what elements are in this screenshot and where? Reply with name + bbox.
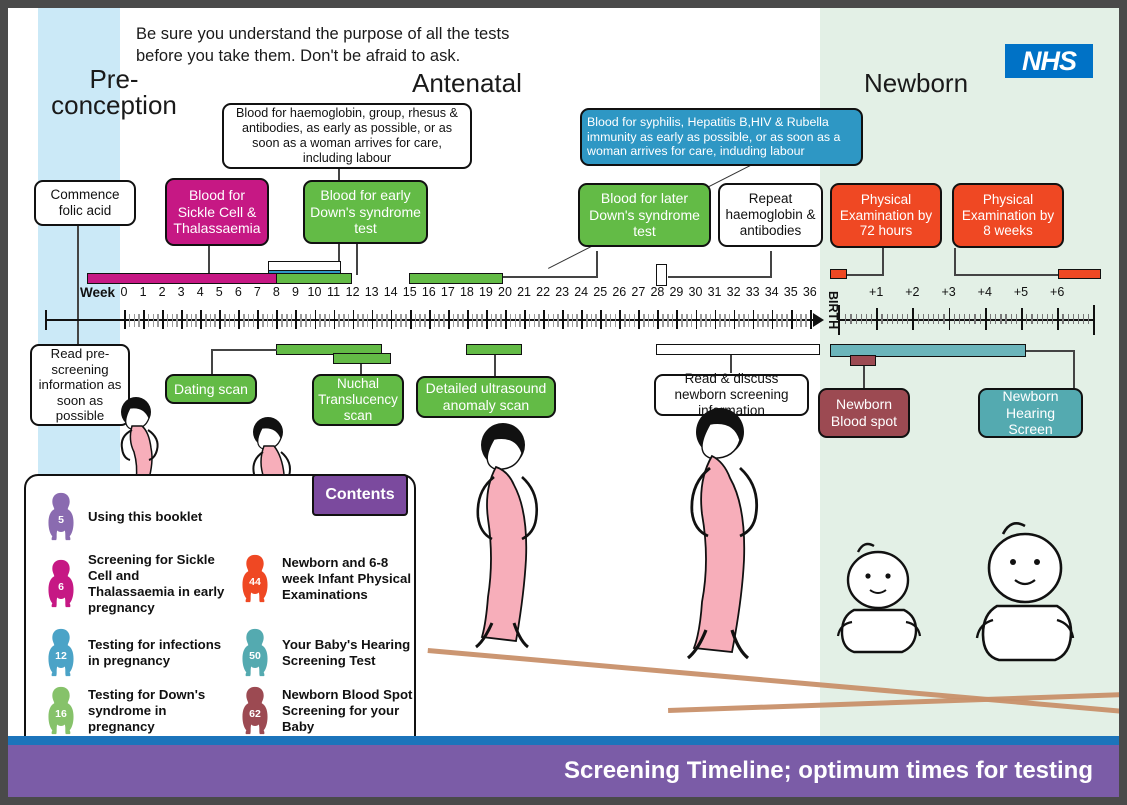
box-blood-later-downs[interactable]: Blood for later Down's syndrome test <box>578 183 711 247</box>
bar-later-downs <box>409 273 503 284</box>
ruler-week-label: 30 <box>686 285 706 299</box>
ruler-tick-minor <box>576 314 578 327</box>
ruler-week-label: 12 <box>343 285 363 299</box>
ruler-week-label: 35 <box>781 285 801 299</box>
ruler-newborn-label: +5 <box>1011 285 1031 299</box>
ruler-tick-minor <box>310 314 312 327</box>
ruler-tick-minor-newborn <box>1016 314 1017 324</box>
ruler-tick-minor-newborn <box>938 314 939 324</box>
ruler-week-label: 7 <box>247 285 267 299</box>
connector-repeat-v <box>770 251 772 277</box>
connector-phys72-h <box>846 274 884 276</box>
contents-figure-icon: 5 <box>44 490 78 544</box>
ruler-tick-minor <box>281 314 283 327</box>
ruler-tick-major-newborn <box>912 308 914 330</box>
ruler-week-label: 9 <box>285 285 305 299</box>
ruler-tick-minor <box>424 314 426 327</box>
ruler-tick-minor <box>129 314 131 327</box>
ruler-tick-minor <box>796 314 798 327</box>
ruler-tick-minor <box>272 314 274 327</box>
ruler-tick-major <box>505 310 507 329</box>
contents-page-number: 16 <box>44 708 78 720</box>
ruler-tick-minor <box>667 314 669 327</box>
ruler-week-label: 6 <box>228 285 248 299</box>
ruler-tick-minor <box>691 314 693 327</box>
ruler-week-label: 21 <box>514 285 534 299</box>
contents-page-number: 5 <box>44 514 78 526</box>
contents-figure-icon: 12 <box>44 626 78 680</box>
ruler-tick-major <box>143 310 145 329</box>
ruler-tick-minor <box>153 314 155 327</box>
ruler-week-label: 16 <box>419 285 439 299</box>
ruler-tick-major <box>619 310 621 329</box>
screening-timeline-poster: Be sure you understand the purpose of al… <box>8 8 1119 797</box>
ruler-tick-major <box>334 310 336 329</box>
ruler-week-label: 8 <box>266 285 286 299</box>
ruler-tick-major <box>696 310 698 329</box>
contents-page-number: 44 <box>238 576 272 588</box>
banner-blue-stripe <box>8 736 1119 745</box>
ruler-tick-minor <box>343 314 345 327</box>
ruler-tick-major <box>276 310 278 329</box>
contents-item-label: Using this booklet <box>88 509 202 525</box>
ruler-tick-minor <box>615 314 617 327</box>
ruler-tick-minor-newborn <box>902 314 903 324</box>
connector-later-downs-h <box>503 276 598 278</box>
ruler-tick-minor <box>438 314 440 327</box>
ruler-tick-minor-newborn <box>892 314 893 324</box>
ruler-tick-minor <box>495 314 497 327</box>
ruler-tick-minor-newborn <box>850 314 851 324</box>
ruler-tick-minor <box>415 314 417 327</box>
ruler-tick-minor <box>672 314 674 327</box>
ruler-week-label: 28 <box>647 285 667 299</box>
contents-item[interactable]: 44Newborn and 6-8 week Infant Physical E… <box>238 552 420 606</box>
contents-item-label: Testing for infections in pregnancy <box>88 637 226 669</box>
ruler-newborn-label: +3 <box>939 285 959 299</box>
ruler-tick-minor <box>262 314 264 327</box>
ruler-tick-minor-newborn <box>1073 314 1074 324</box>
ruler-tick-minor-newborn <box>959 314 960 324</box>
ruler-tick-minor <box>710 314 712 327</box>
ruler-tick-minor-newborn <box>1078 314 1079 324</box>
bar-early-downs <box>276 273 352 284</box>
ruler-tick-minor <box>457 314 459 327</box>
bar-nuchal-scan <box>333 353 391 364</box>
box-newborn-blood-spot[interactable]: Newborn Blood spot <box>818 388 910 438</box>
ruler-tick-major-newborn <box>876 308 878 330</box>
ruler-tick-minor <box>481 314 483 327</box>
ruler-newborn-label: +6 <box>1047 285 1067 299</box>
ruler-week-label: 18 <box>457 285 477 299</box>
ruler-week-label: 11 <box>324 285 344 299</box>
ruler-tick-minor <box>476 314 478 327</box>
box-physical-exam-8w[interactable]: Physical Examination by 8 weeks <box>952 183 1064 248</box>
ruler-tick-minor-newborn <box>1005 314 1006 324</box>
contents-figure-icon: 62 <box>238 684 272 738</box>
ruler-tick-minor <box>534 314 536 327</box>
ruler-week-label: 29 <box>666 285 686 299</box>
ruler-tick-major <box>200 310 202 329</box>
stage-title-newborn: Newborn <box>864 68 968 99</box>
connector-anomaly-v <box>494 355 496 377</box>
ruler-tick-minor <box>367 314 369 327</box>
ruler-tick-major <box>600 310 602 329</box>
ruler-tick-minor <box>662 314 664 327</box>
bar-anomaly-scan <box>466 344 522 355</box>
ruler-tick-major <box>715 310 717 329</box>
ruler-tick-minor <box>743 314 745 327</box>
ruler-tick-minor <box>605 314 607 327</box>
contents-page-number: 62 <box>238 708 272 720</box>
ruler-tick-major <box>391 310 393 329</box>
ruler-tick-minor <box>805 314 807 327</box>
ruler-tick-major <box>353 310 355 329</box>
ruler-tick-major <box>657 310 659 329</box>
ruler-week-label: 24 <box>571 285 591 299</box>
ruler-tick-minor <box>234 314 236 327</box>
box-blood-sickle-cell[interactable]: Blood for Sickle Cell & Thalassaemia <box>165 178 269 246</box>
ruler-week-label: 19 <box>476 285 496 299</box>
ruler-tick-minor <box>286 314 288 327</box>
ruler-week-label: 10 <box>305 285 325 299</box>
contents-page-number: 12 <box>44 650 78 662</box>
ruler-week-label: 36 <box>800 285 820 299</box>
box-newborn-hearing-screen[interactable]: Newborn Hearing Screen <box>978 388 1083 438</box>
contents-figure-icon: 50 <box>238 626 272 680</box>
ruler-tick-minor-newborn <box>1047 314 1048 324</box>
ruler-tick-minor <box>376 314 378 327</box>
ruler-tick-minor-newborn <box>861 314 862 324</box>
box-repeat-haemoglobin[interactable]: Repeat haemoglobin & antibodies <box>718 183 823 247</box>
ruler-tick-minor-newborn <box>918 314 919 324</box>
ruler-tick-major <box>772 310 774 329</box>
ruler-tick-minor <box>748 314 750 327</box>
ruler-tick-minor <box>491 314 493 327</box>
stage-title-preconception-line1: Pre- <box>44 66 184 92</box>
ruler-tick-minor <box>167 314 169 327</box>
ruler-end-cap <box>1093 305 1095 335</box>
ruler-tick-minor-newborn <box>881 314 882 324</box>
ruler-tick-minor <box>324 314 326 327</box>
nhs-logo: NHS <box>1005 44 1093 78</box>
contents-item[interactable]: 6Screening for Sickle Cell and Thalassae… <box>44 552 226 616</box>
ruler-tick-major <box>162 310 164 329</box>
ruler-week-label: 23 <box>552 285 572 299</box>
stage-title-preconception: Pre- conception <box>44 66 184 118</box>
ruler-tick-minor <box>700 314 702 327</box>
contents-figure-icon: 44 <box>238 552 272 606</box>
ruler-tick-minor <box>629 314 631 327</box>
ruler-tick-major <box>429 310 431 329</box>
ruler-tick-minor <box>610 314 612 327</box>
contents-figure-icon: 16 <box>44 684 78 738</box>
contents-item[interactable]: 12Testing for infections in pregnancy <box>44 626 226 680</box>
ruler-tick-major <box>410 310 412 329</box>
ruler-tick-minor <box>329 314 331 327</box>
contents-figure-icon: 6 <box>44 557 78 611</box>
ruler-tick-minor <box>762 314 764 327</box>
ruler-tick-minor-newborn <box>1083 314 1084 324</box>
ruler-tick-major <box>372 310 374 329</box>
ruler-tick-minor <box>214 314 216 327</box>
ruler-tick-minor <box>553 314 555 327</box>
ruler-tick-minor-newborn <box>1068 314 1069 324</box>
ruler-week-label: 34 <box>762 285 782 299</box>
connector-phys8w-v <box>954 248 956 276</box>
box-physical-exam-72h[interactable]: Physical Examination by 72 hours <box>830 183 942 248</box>
connector-phys8w-h <box>954 274 1059 276</box>
ruler-tick-major <box>238 310 240 329</box>
ruler-week-label: 27 <box>628 285 648 299</box>
ruler-tick-minor <box>319 314 321 327</box>
ruler-tick-minor <box>453 314 455 327</box>
ruler-tick-minor <box>134 314 136 327</box>
ruler-tick-minor <box>705 314 707 327</box>
figure-baby-1 <box>828 538 938 663</box>
connector-early-downs <box>356 243 358 275</box>
ruler-arrow-birth <box>813 313 824 327</box>
banner-purple: Screening Timeline; optimum times for te… <box>8 745 1119 797</box>
connector-dating-h <box>211 349 277 351</box>
contents-tab[interactable]: Contents <box>312 474 408 516</box>
ruler-tick-minor <box>362 314 364 327</box>
ruler-tick-minor <box>686 314 688 327</box>
ruler-tick-minor <box>205 314 207 327</box>
ruler-tick-minor-newborn <box>933 314 934 324</box>
ruler-tick-minor <box>405 314 407 327</box>
ruler-tick-minor <box>776 314 778 327</box>
ruler-week-label: 20 <box>495 285 515 299</box>
ruler-tick-minor-newborn <box>866 314 867 324</box>
ruler-tick-minor <box>538 314 540 327</box>
ruler-tick-minor-newborn <box>1031 314 1032 324</box>
ruler-tick-minor-newborn <box>995 314 996 324</box>
ruler-tick-minor <box>643 314 645 327</box>
ruler-axis-newborn <box>840 319 1094 321</box>
connector-dating-v <box>211 349 213 377</box>
ruler-tick-major-newborn <box>1057 308 1059 330</box>
ruler-week-label: 22 <box>533 285 553 299</box>
ruler-tick-minor-newborn <box>943 314 944 324</box>
ruler-tick-minor <box>172 314 174 327</box>
ruler-tick-minor <box>395 314 397 327</box>
ruler-axis-preconception <box>45 319 125 321</box>
contents-item-label: Your Baby's Hearing Screening Test <box>282 637 420 669</box>
ruler-tick-minor <box>148 314 150 327</box>
ruler-tick-minor-newborn <box>1052 314 1053 324</box>
contents-item-label: Testing for Down's syndrome in pregnancy <box>88 687 226 735</box>
ruler-tick-minor <box>591 314 593 327</box>
ruler-week-label: 26 <box>609 285 629 299</box>
ruler-tick-minor-newborn <box>1026 314 1027 324</box>
ruler-tick-minor-newborn <box>980 314 981 324</box>
ruler-tick-minor <box>567 314 569 327</box>
ruler-tick-minor <box>338 314 340 327</box>
ruler-tick-major <box>581 310 583 329</box>
ruler-tick-minor <box>248 314 250 327</box>
contents-item-label: Newborn Blood Spot Screening for your Ba… <box>282 687 420 735</box>
ruler-tick-minor <box>529 314 531 327</box>
contents-item[interactable]: 16Testing for Down's syndrome in pregnan… <box>44 684 226 738</box>
ruler-week-label: 33 <box>743 285 763 299</box>
ruler-tick-minor <box>386 314 388 327</box>
ruler-tick-major <box>315 310 317 329</box>
ruler-week-label: 5 <box>209 285 229 299</box>
ruler-week-label: 3 <box>171 285 191 299</box>
contents-item-label: Screening for Sickle Cell and Thalassaem… <box>88 552 226 616</box>
bar-repeat-haemoglobin <box>656 264 667 286</box>
ruler-tick-minor-newborn <box>897 314 898 324</box>
ruler-tick-minor <box>443 314 445 327</box>
connector-phys72-v <box>882 248 884 276</box>
figure-pregnant-woman-3 <box>456 423 556 653</box>
ruler-tick-minor <box>243 314 245 327</box>
contents-page-number: 6 <box>44 581 78 593</box>
bar-sickle-cell <box>87 273 277 284</box>
ruler-tick-minor <box>500 314 502 327</box>
ruler-tick-minor <box>195 314 197 327</box>
ruler-tick-minor <box>781 314 783 327</box>
ruler-tick-major <box>486 310 488 329</box>
stage-title-preconception-line2: conception <box>44 92 184 118</box>
box-dating-scan[interactable]: Dating scan <box>165 374 257 404</box>
ruler-tick-minor <box>510 314 512 327</box>
ruler-tick-minor-newborn <box>969 314 970 324</box>
ruler-newborn-label: +2 <box>902 285 922 299</box>
ruler-tick-major <box>257 310 259 329</box>
ruler-tick-major <box>791 310 793 329</box>
ruler-tick-major-newborn <box>1021 308 1023 330</box>
ruler-tick-minor <box>348 314 350 327</box>
ruler-tick-minor-newborn <box>856 314 857 324</box>
ruler-tick-minor <box>300 314 302 327</box>
ruler-week-label: 0 <box>114 285 134 299</box>
ruler-tick-major <box>295 310 297 329</box>
ruler-tick-major <box>448 310 450 329</box>
ruler-tick-major <box>524 310 526 329</box>
box-detailed-anomaly-scan[interactable]: Detailed ultrasound anomaly scan <box>416 376 556 418</box>
figure-baby-2 <box>963 516 1093 676</box>
ruler-tick-minor-newborn <box>1088 314 1089 324</box>
ruler-tick-minor <box>186 314 188 327</box>
ruler-tick-major <box>543 310 545 329</box>
ruler-tick-major <box>753 310 755 329</box>
callout-infections: Blood for syphilis, Hepatitis B,HIV & Ru… <box>580 108 863 166</box>
ruler-tick-minor <box>381 314 383 327</box>
ruler-tick-minor <box>472 314 474 327</box>
ruler-week-label: 1 <box>133 285 153 299</box>
ruler-tick-major <box>181 310 183 329</box>
ruler-tick-minor <box>434 314 436 327</box>
ruler-tick-major-newborn <box>949 308 951 330</box>
contents-item[interactable]: 5Using this booklet <box>44 490 226 544</box>
ruler-tick-minor <box>291 314 293 327</box>
ruler-tick-minor <box>729 314 731 327</box>
ruler-tick-minor <box>724 314 726 327</box>
ruler-tick-major <box>124 310 126 329</box>
ruler-tick-minor-newborn <box>1000 314 1001 324</box>
ruler-tick-minor <box>624 314 626 327</box>
ruler-tick-minor-newborn <box>1042 314 1043 324</box>
ruler-week-label: 13 <box>362 285 382 299</box>
connector-folic <box>77 223 79 348</box>
ruler-tick-minor <box>548 314 550 327</box>
contents-item[interactable]: 62Newborn Blood Spot Screening for your … <box>238 684 420 738</box>
ruler-tick-minor <box>653 314 655 327</box>
ruler-tick-major <box>734 310 736 329</box>
ruler-tick-major <box>467 310 469 329</box>
ruler-week-label: 14 <box>381 285 401 299</box>
ruler-tick-minor <box>738 314 740 327</box>
ruler-tick-minor-newborn <box>923 314 924 324</box>
ruler-tick-major <box>810 310 812 329</box>
ruler-tick-minor-newborn <box>1037 314 1038 324</box>
ruler-tick-minor <box>786 314 788 327</box>
connector-hearing-v <box>1073 350 1075 388</box>
ruler-tick-minor <box>586 314 588 327</box>
ruler-tick-minor <box>519 314 521 327</box>
ruler-tick-minor-newborn <box>1011 314 1012 324</box>
contents-page-number: 50 <box>238 650 272 662</box>
ruler-week-label: 17 <box>438 285 458 299</box>
bar-physical-72h <box>830 269 847 279</box>
ruler-tick-minor <box>305 314 307 327</box>
contents-item[interactable]: 50Your Baby's Hearing Screening Test <box>238 626 420 680</box>
ruler-tick-minor <box>515 314 517 327</box>
banner-title: Screening Timeline; optimum times for te… <box>564 757 1119 785</box>
ruler-tick-minor <box>357 314 359 327</box>
ruler-tick-major <box>638 310 640 329</box>
bar-physical-8w <box>1058 269 1101 279</box>
ruler-tick-minor <box>462 314 464 327</box>
box-blood-early-downs[interactable]: Blood for early Down's syndrome test <box>303 180 428 244</box>
ruler-tick-minor <box>176 314 178 327</box>
ruler-tick-minor <box>191 314 193 327</box>
ruler-tick-minor-newborn <box>974 314 975 324</box>
bar-newborn-screening-info <box>656 344 820 355</box>
ruler-tick-minor-newborn <box>1062 314 1063 324</box>
ruler-tick-major-newborn <box>985 308 987 330</box>
ruler-tick-minor-newborn <box>871 314 872 324</box>
ruler-tick-minor-newborn <box>954 314 955 324</box>
ruler-tick-minor <box>419 314 421 327</box>
ruler-week-label: 4 <box>190 285 210 299</box>
ruler-tick-minor <box>267 314 269 327</box>
ruler-tick-minor <box>800 314 802 327</box>
ruler-tick-minor <box>138 314 140 327</box>
ruler-tick-minor-newborn <box>990 314 991 324</box>
box-nuchal-translucency-scan[interactable]: Nuchal Translucency scan <box>312 374 404 426</box>
ruler-tick-minor <box>210 314 212 327</box>
ruler-tick-minor <box>648 314 650 327</box>
box-commence-folic-acid[interactable]: Commence folic acid <box>34 180 136 226</box>
ruler-tick-major <box>219 310 221 329</box>
ruler-tick-minor-newborn <box>964 314 965 324</box>
connector-sickle <box>208 243 210 275</box>
bar-newborn-blood-spot <box>850 355 876 366</box>
ruler-tick-minor <box>595 314 597 327</box>
ruler-birth-label: BIRTH <box>826 291 840 329</box>
ruler-tick-minor <box>757 314 759 327</box>
ruler-week-label-word: Week <box>80 285 115 300</box>
connector-repeat-h <box>668 276 772 278</box>
ruler-tick-major <box>562 310 564 329</box>
ruler-tick-minor <box>229 314 231 327</box>
ruler-tick-minor <box>572 314 574 327</box>
ruler-tick-minor-newborn <box>845 314 846 324</box>
intro-text: Be sure you understand the purpose of al… <box>136 24 556 68</box>
